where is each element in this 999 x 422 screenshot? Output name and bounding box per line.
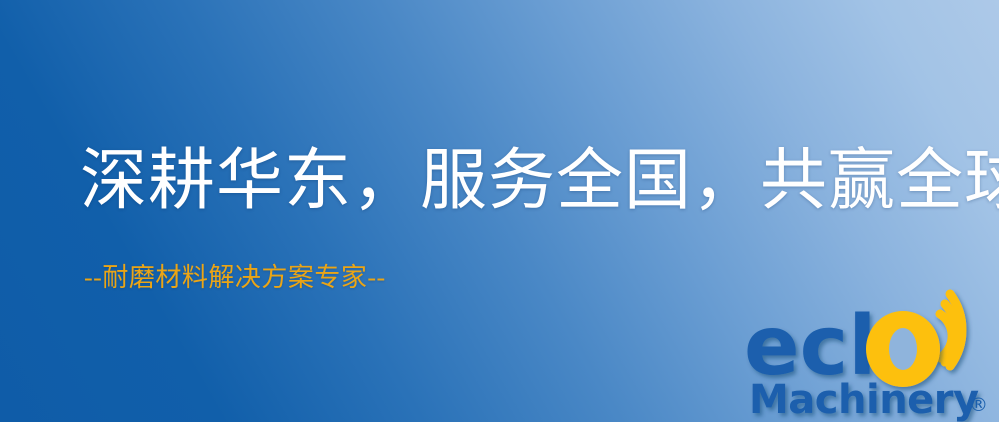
echo-machinery-logo: ech Machinery ® [744,296,999,422]
banner-subtitle: --耐磨材料解决方案专家-- [84,265,386,291]
logo-tagline-machinery: Machinery [749,377,979,422]
logo-registered-mark: ® [969,394,988,416]
logo-wordmark-o [866,311,940,387]
signal-arcs-icon [940,294,962,366]
banner-headline: 深耕华东，服务全国，共赢全球 [80,148,999,215]
promo-banner: 深耕华东，服务全国，共赢全球 --耐磨材料解决方案专家-- ech [0,0,999,422]
